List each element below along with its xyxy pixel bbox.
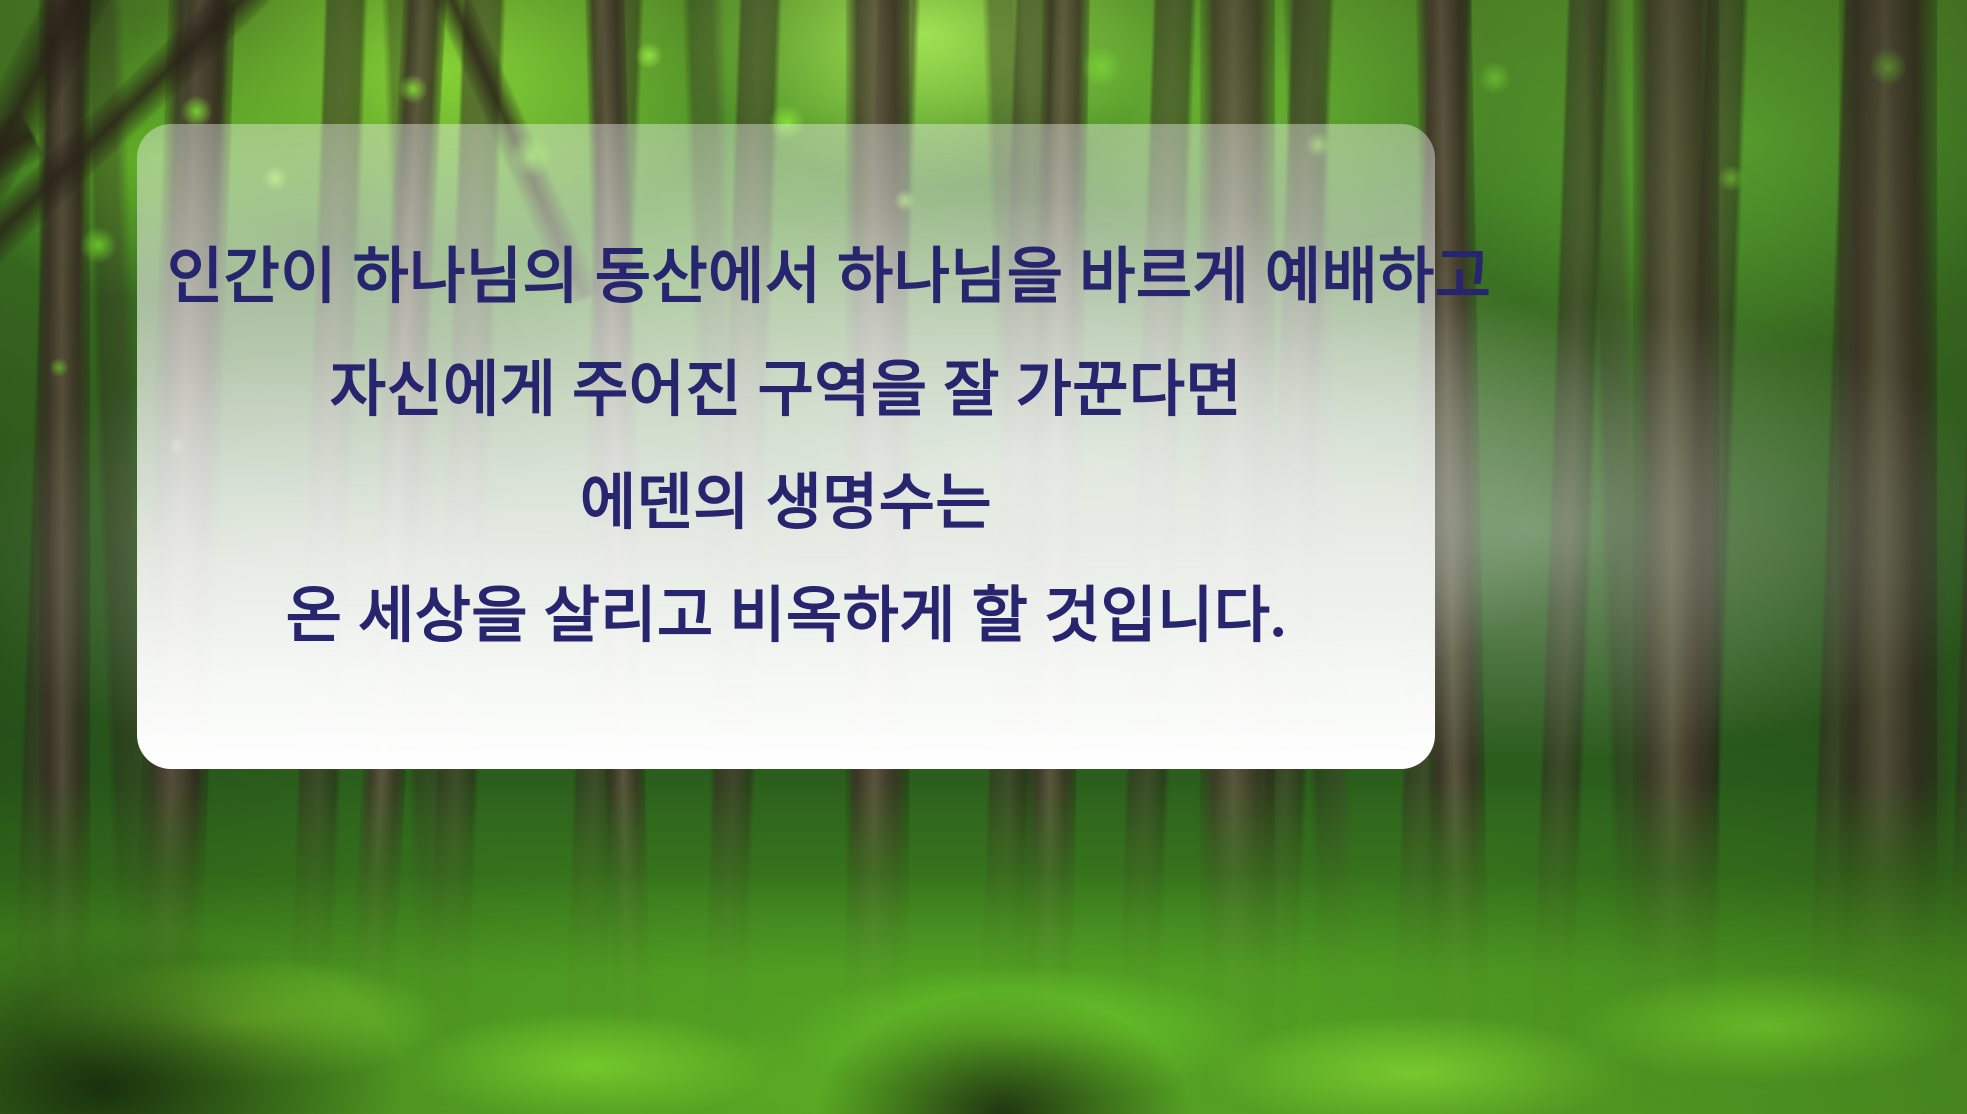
verse-line-2: 자신에게 주어진 구역을 잘 가꾼다면 <box>167 360 1405 421</box>
verse-line-4: 온 세상을 살리고 비옥하게 할 것입니다. <box>167 586 1405 647</box>
verse-line-1: 인간이 하나님의 동산에서 하나님을 바르게 예배하고 <box>167 247 1405 308</box>
slide-canvas: 인간이 하나님의 동산에서 하나님을 바르게 예배하고 자신에게 주어진 구역을… <box>0 0 1967 1114</box>
verse-line-3: 에덴의 생명수는 <box>167 473 1405 534</box>
verse-card: 인간이 하나님의 동산에서 하나님을 바르게 예배하고 자신에게 주어진 구역을… <box>137 124 1435 769</box>
